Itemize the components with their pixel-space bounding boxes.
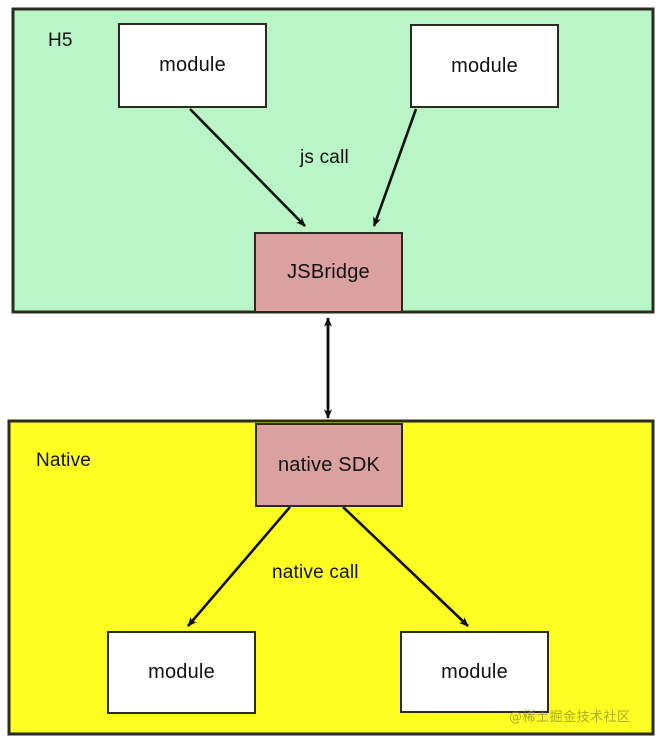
- watermark-text: @稀土掘金技术社区: [509, 706, 631, 725]
- jsbridge-node[interactable]: JSBridge: [254, 232, 403, 313]
- native-sdk-node[interactable]: native SDK: [255, 423, 403, 507]
- native-call-label: native call: [272, 562, 359, 584]
- native-layer-label: Native: [36, 450, 91, 472]
- diagram-canvas: H5 module module js call JSBridge Native…: [0, 0, 663, 743]
- js-call-label: js call: [300, 147, 349, 169]
- h5-module-left[interactable]: module: [118, 23, 267, 108]
- diagram-graphics: [0, 0, 663, 743]
- h5-layer-label: H5: [48, 30, 73, 52]
- native-module-right[interactable]: module: [400, 631, 549, 713]
- native-module-left[interactable]: module: [107, 631, 256, 714]
- h5-module-right[interactable]: module: [410, 24, 559, 108]
